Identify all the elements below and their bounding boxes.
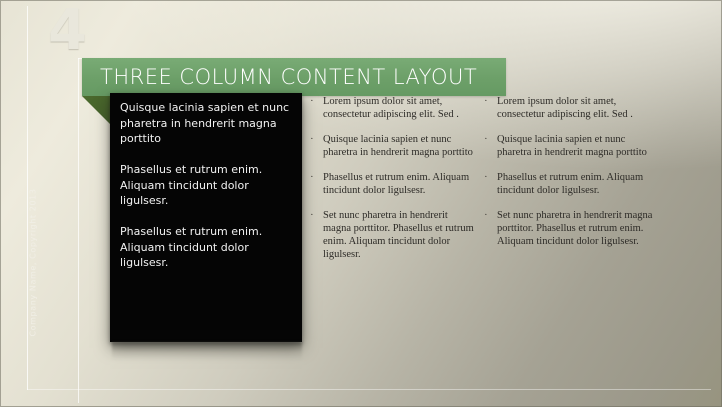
bullet-list-item: ·Quisque lacinia sapien et nunc pharetra… [310,133,476,159]
bottom-rule [27,389,711,390]
bullet-list-item: ·Lorem ipsum dolor sit amet, consectetur… [310,95,476,121]
title-banner: THREE COLUMN CONTENT LAYOUT [82,58,506,96]
bullet-list-item: ·Lorem ipsum dolor sit amet, consectetur… [484,95,654,121]
presentation-slide: 4 Company Name, Copyright 2013 THREE COL… [0,0,722,407]
bullet-point-icon: · [484,171,497,197]
panel-shadow [112,342,302,360]
bullet-item-text: Lorem ipsum dolor sit amet, consectetur … [323,95,476,121]
copyright-notice: Company Name, Copyright 2013 [29,178,38,348]
bullet-item-text: Phasellus et rutrum enim. Aliquam tincid… [497,171,654,197]
middle-content-column: ·Lorem ipsum dolor sit amet, consectetur… [310,95,476,273]
bullet-list-item: ·Set nunc pharetra in hendrerit magna po… [310,209,476,261]
bullet-item-text: Quisque lacinia sapien et nunc pharetra … [497,133,654,159]
bullet-list-item: ·Set nunc pharetra in hendrerit magna po… [484,209,654,248]
slide-number: 4 [48,3,85,59]
bullet-list-item: ·Quisque lacinia sapien et nunc pharetra… [484,133,654,159]
ribbon-fold-decoration [82,96,112,126]
left-content-panel: Quisque lacinia sapien et nunc pharetra … [110,93,302,342]
bullet-point-icon: · [310,95,323,121]
bullet-point-icon: · [310,171,323,197]
bullet-list-item: ·Phasellus et rutrum enim. Aliquam tinci… [484,171,654,197]
bullet-point-icon: · [484,133,497,159]
bullet-point-icon: · [484,209,497,248]
bullet-list-item: ·Phasellus et rutrum enim. Aliquam tinci… [310,171,476,197]
bullet-point-icon: · [310,209,323,261]
slide-title: THREE COLUMN CONTENT LAYOUT [100,63,498,91]
bullet-item-text: Lorem ipsum dolor sit amet, consectetur … [497,95,654,121]
bullet-item-text: Phasellus et rutrum enim. Aliquam tincid… [323,171,476,197]
bullet-item-text: Quisque lacinia sapien et nunc pharetra … [323,133,476,159]
bullet-point-icon: · [484,95,497,121]
panel-vertical-rule [78,58,79,403]
bullet-point-icon: · [310,133,323,159]
bullet-item-text: Set nunc pharetra in hendrerit magna por… [323,209,476,261]
bullet-item-text: Set nunc pharetra in hendrerit magna por… [497,209,654,248]
right-content-column: ·Lorem ipsum dolor sit amet, consectetur… [484,95,654,260]
left-panel-text: Quisque lacinia sapien et nunc pharetra … [120,100,292,271]
